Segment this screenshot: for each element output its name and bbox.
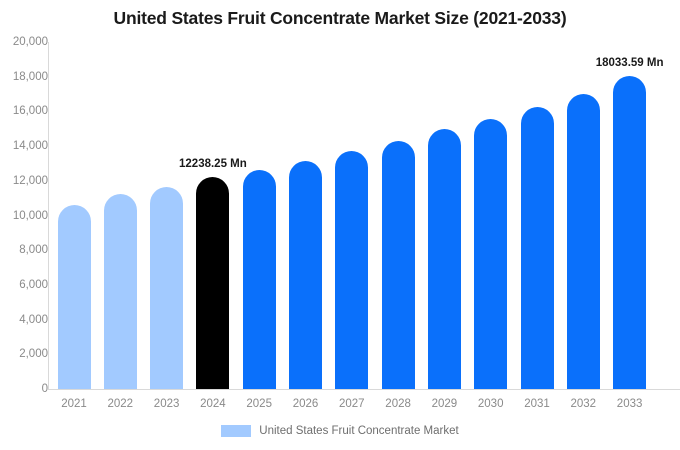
x-axis-tick-label-2031: 2031: [524, 398, 550, 410]
x-axis-tick-label-2025: 2025: [246, 398, 272, 410]
x-axis-tick-label-2028: 2028: [385, 398, 411, 410]
chart-title: United States Fruit Concentrate Market S…: [0, 8, 680, 29]
y-axis-tick-label: 14,000: [4, 140, 48, 152]
x-axis-tick-label-2027: 2027: [339, 398, 365, 410]
legend-swatch-united-states-fruit-concentrate-market: [221, 425, 251, 437]
x-axis-tick-label-2023: 2023: [154, 398, 180, 410]
bar-2023[interactable]: [150, 187, 183, 389]
legend-label: United States Fruit Concentrate Market: [259, 425, 458, 437]
bar-2033[interactable]: [613, 76, 646, 389]
x-axis-tick-label-2021: 2021: [61, 398, 87, 410]
bar-chart: United States Fruit Concentrate Market S…: [0, 0, 680, 450]
y-axis-tick-label: 20,000: [4, 36, 48, 48]
chart-legend: United States Fruit Concentrate Market: [0, 425, 680, 437]
y-axis: 20,00018,00016,00014,00012,00010,0008,00…: [0, 0, 48, 450]
x-axis-tick-label-2022: 2022: [108, 398, 134, 410]
y-axis-tick-label: 4,000: [4, 314, 48, 326]
bar-2024[interactable]: [196, 177, 229, 389]
bar-2028[interactable]: [382, 141, 415, 389]
x-axis-tick-label-2029: 2029: [432, 398, 458, 410]
y-axis-tick-label: 0: [4, 383, 48, 395]
bar-2022[interactable]: [104, 194, 137, 389]
bar-2029[interactable]: [428, 129, 461, 389]
bar-2025[interactable]: [243, 170, 276, 389]
x-axis-tick-label-2030: 2030: [478, 398, 504, 410]
bar-value-label-2024: 12238.25 Mn: [179, 158, 247, 170]
y-axis-tick-label: 8,000: [4, 244, 48, 256]
bar-2031[interactable]: [521, 107, 554, 389]
y-axis-tick-label: 18,000: [4, 71, 48, 83]
y-axis-tick-label: 2,000: [4, 348, 48, 360]
x-axis-tick-label-2024: 2024: [200, 398, 226, 410]
y-axis-tick-label: 6,000: [4, 279, 48, 291]
bar-2030[interactable]: [474, 119, 507, 389]
y-axis-tick-label: 10,000: [4, 210, 48, 222]
x-axis-line: [48, 389, 680, 390]
x-axis-tick-label-2026: 2026: [293, 398, 319, 410]
x-axis-tick-label-2033: 2033: [617, 398, 643, 410]
bar-2026[interactable]: [289, 161, 322, 389]
x-axis-tick-label-2032: 2032: [571, 398, 597, 410]
bar-2027[interactable]: [335, 151, 368, 389]
bar-2032[interactable]: [567, 94, 600, 389]
bar-value-label-2033: 18033.59 Mn: [596, 57, 664, 69]
y-axis-tick-label: 16,000: [4, 105, 48, 117]
plot-area: [49, 42, 680, 389]
bar-2021[interactable]: [58, 205, 91, 389]
y-axis-tick-label: 12,000: [4, 175, 48, 187]
